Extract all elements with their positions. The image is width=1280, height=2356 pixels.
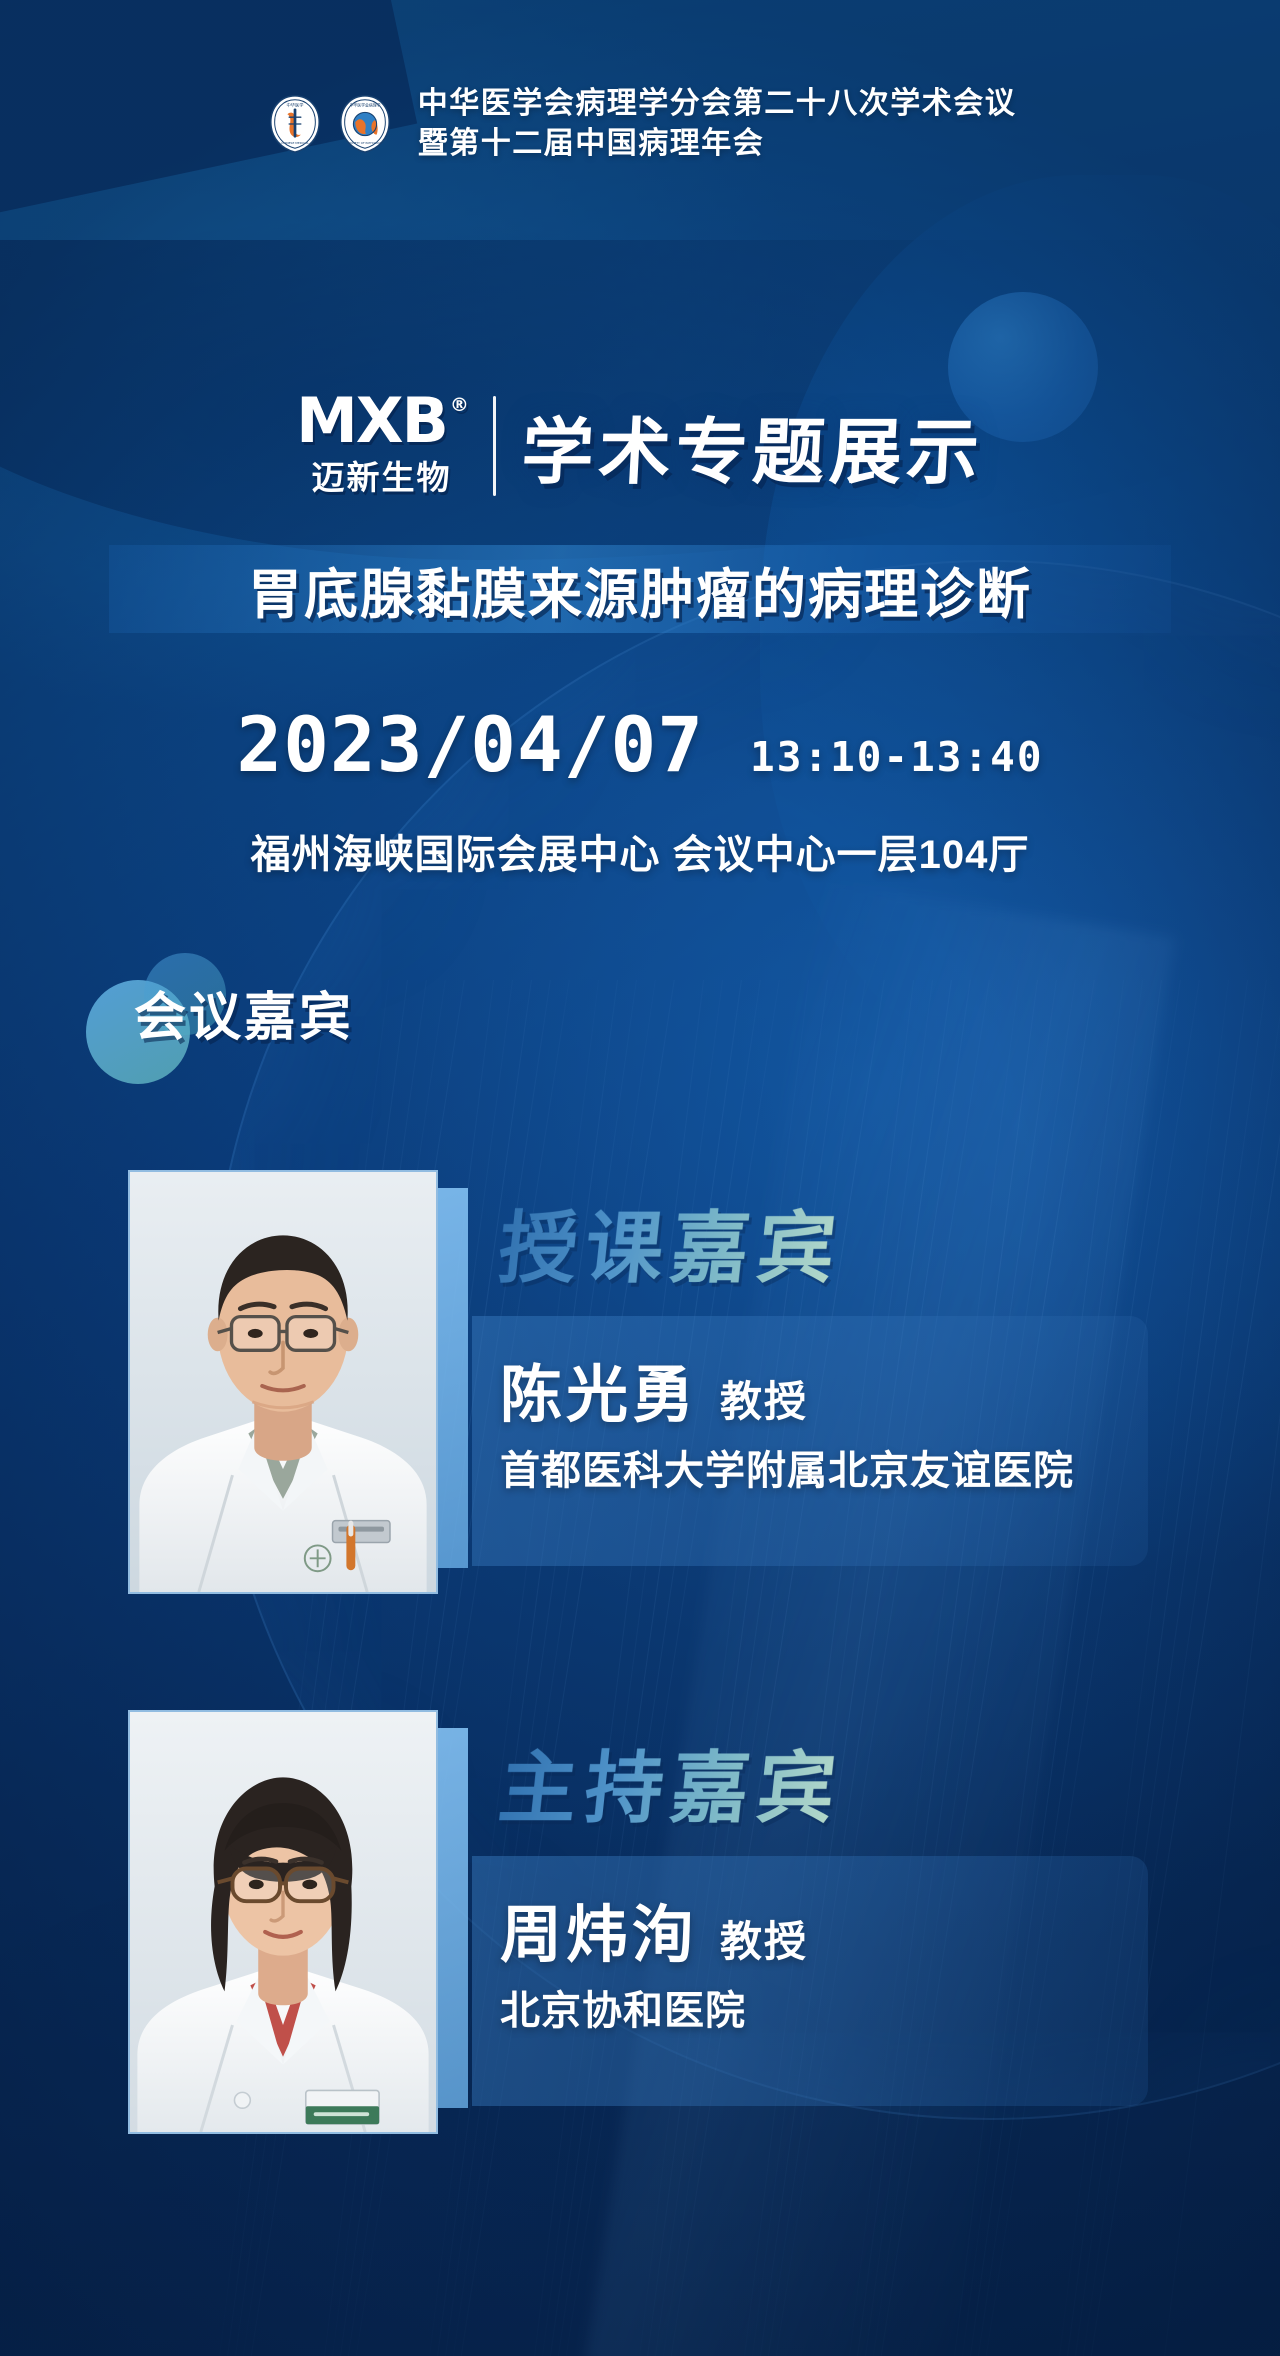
chinese-medical-association-emblem: 中华医学 CHINESE MEDICAL	[264, 93, 326, 155]
guests-heading-label: 会议嘉宾	[134, 975, 354, 1050]
header-title-block: 中华医学会病理学分会第二十八次学术会议 暨第十二届中国病理年会	[418, 84, 1017, 163]
brand-letters: MXB	[296, 392, 447, 449]
guest-role-label: 授课嘉宾	[494, 1186, 850, 1298]
host-photo-container	[128, 1688, 468, 2140]
conference-title-line1: 中华医学会病理学分会第二十八次学术会议	[418, 84, 1017, 124]
brand-and-title-band: MXB ® 迈新生物 学术专题展示	[0, 392, 1280, 499]
speaker-photo-chen-guangyong	[128, 1170, 438, 1594]
wave-shape-upper	[0, 150, 1280, 580]
svg-text:CHINESE MEDICAL: CHINESE MEDICAL	[281, 140, 309, 144]
svg-text:中华医学: 中华医学	[286, 101, 304, 108]
guests-section-heading: 会议嘉宾	[96, 975, 354, 1050]
brand-chinese-name: 迈新生物	[311, 451, 451, 499]
registered-trademark-icon: ®	[450, 396, 467, 415]
host-organization: 北京协和医院	[500, 1978, 746, 2036]
host-photo-zhou-weixun	[128, 1710, 438, 2134]
guest-card-speaker: 授课嘉宾 陈光勇 教授 首都医科大学附属北京友谊医院	[0, 1148, 1280, 1618]
svg-text:SOCIETY OF PATHOLOGY: SOCIETY OF PATHOLOGY	[348, 140, 382, 144]
guest-card-host: 主持嘉宾 周炜洵 教授 北京协和医院	[0, 1688, 1280, 2158]
event-date: 2023/04/07	[236, 700, 704, 789]
host-name-row: 周炜洵 教授	[500, 1884, 808, 1974]
vertical-divider	[493, 396, 496, 496]
mxb-brand-logo: MXB ® 迈新生物	[296, 392, 493, 499]
page-title: 学术专题展示	[519, 393, 987, 498]
speaker-organization: 首都医科大学附属北京友谊医院	[500, 1438, 1074, 1496]
schedule-block: 2023/04/07 13:10-13:40	[0, 700, 1280, 789]
speaker-academic-title: 教授	[720, 1368, 808, 1429]
header-emblems: 中华医学 CHINESE MEDICAL 中华医学会病理学 SOCIETY OF…	[264, 93, 396, 155]
topic-ribbon: 胃底腺黏膜来源肿瘤的病理诊断	[109, 545, 1171, 633]
speaker-name-row: 陈光勇 教授	[500, 1344, 808, 1434]
conference-title-line2: 暨第十二届中国病理年会	[418, 124, 1017, 164]
guest-role-label: 主持嘉宾	[494, 1726, 850, 1838]
topic-title: 胃底腺黏膜来源肿瘤的病理诊断	[248, 550, 1032, 629]
brand-wordmark: MXB ®	[296, 392, 467, 449]
poster-header: 中华医学 CHINESE MEDICAL 中华医学会病理学 SOCIETY OF…	[0, 84, 1280, 163]
speaker-name: 陈光勇	[500, 1344, 698, 1434]
chinese-society-of-pathology-emblem: 中华医学会病理学 SOCIETY OF PATHOLOGY	[334, 93, 396, 155]
svg-text:中华医学会病理学: 中华医学会病理学	[349, 102, 380, 107]
host-academic-title: 教授	[720, 1908, 808, 1969]
event-time: 13:10-13:40	[750, 733, 1044, 781]
conference-poster: 中华医学 CHINESE MEDICAL 中华医学会病理学 SOCIETY OF…	[0, 0, 1280, 2356]
event-venue: 福州海峡国际会展中心 会议中心一层104厅	[0, 822, 1280, 880]
host-name: 周炜洵	[500, 1884, 698, 1974]
speaker-photo-container	[128, 1148, 468, 1600]
